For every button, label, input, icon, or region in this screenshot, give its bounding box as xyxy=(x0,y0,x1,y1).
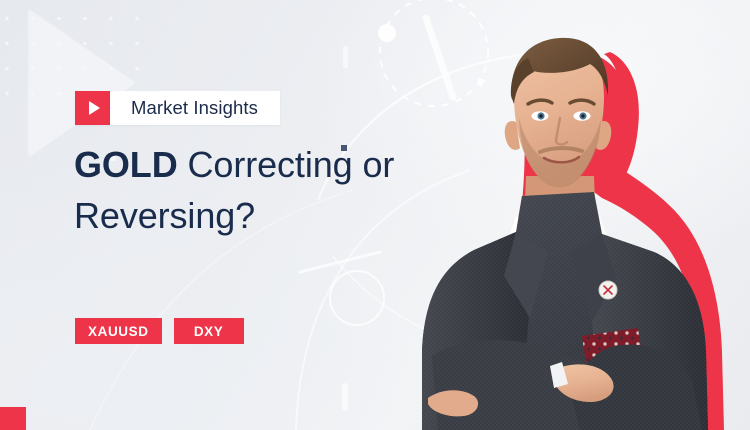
title-line-2: Reversing? xyxy=(74,195,255,236)
pupil-right xyxy=(581,114,584,117)
instrument-tag-list: XAUUSD DXY xyxy=(75,318,244,344)
thumbnail-canvas: Market Insights GOLD Correcting or Rever… xyxy=(0,0,750,430)
badge-label: Market Insights xyxy=(110,91,280,125)
tag-xauusd[interactable]: XAUUSD xyxy=(75,318,162,344)
title-emphasis: GOLD xyxy=(74,144,178,185)
presenter-illustration xyxy=(404,0,750,430)
tag-dxy[interactable]: DXY xyxy=(174,318,244,344)
market-insights-badge[interactable]: Market Insights xyxy=(75,91,280,125)
pupil-left xyxy=(539,114,542,117)
headline-content: Market Insights GOLD Correcting or Rever… xyxy=(0,0,470,430)
presenter-photo xyxy=(404,0,750,430)
title-rest: Correcting or xyxy=(178,144,395,185)
play-triangle-icon xyxy=(75,91,110,125)
